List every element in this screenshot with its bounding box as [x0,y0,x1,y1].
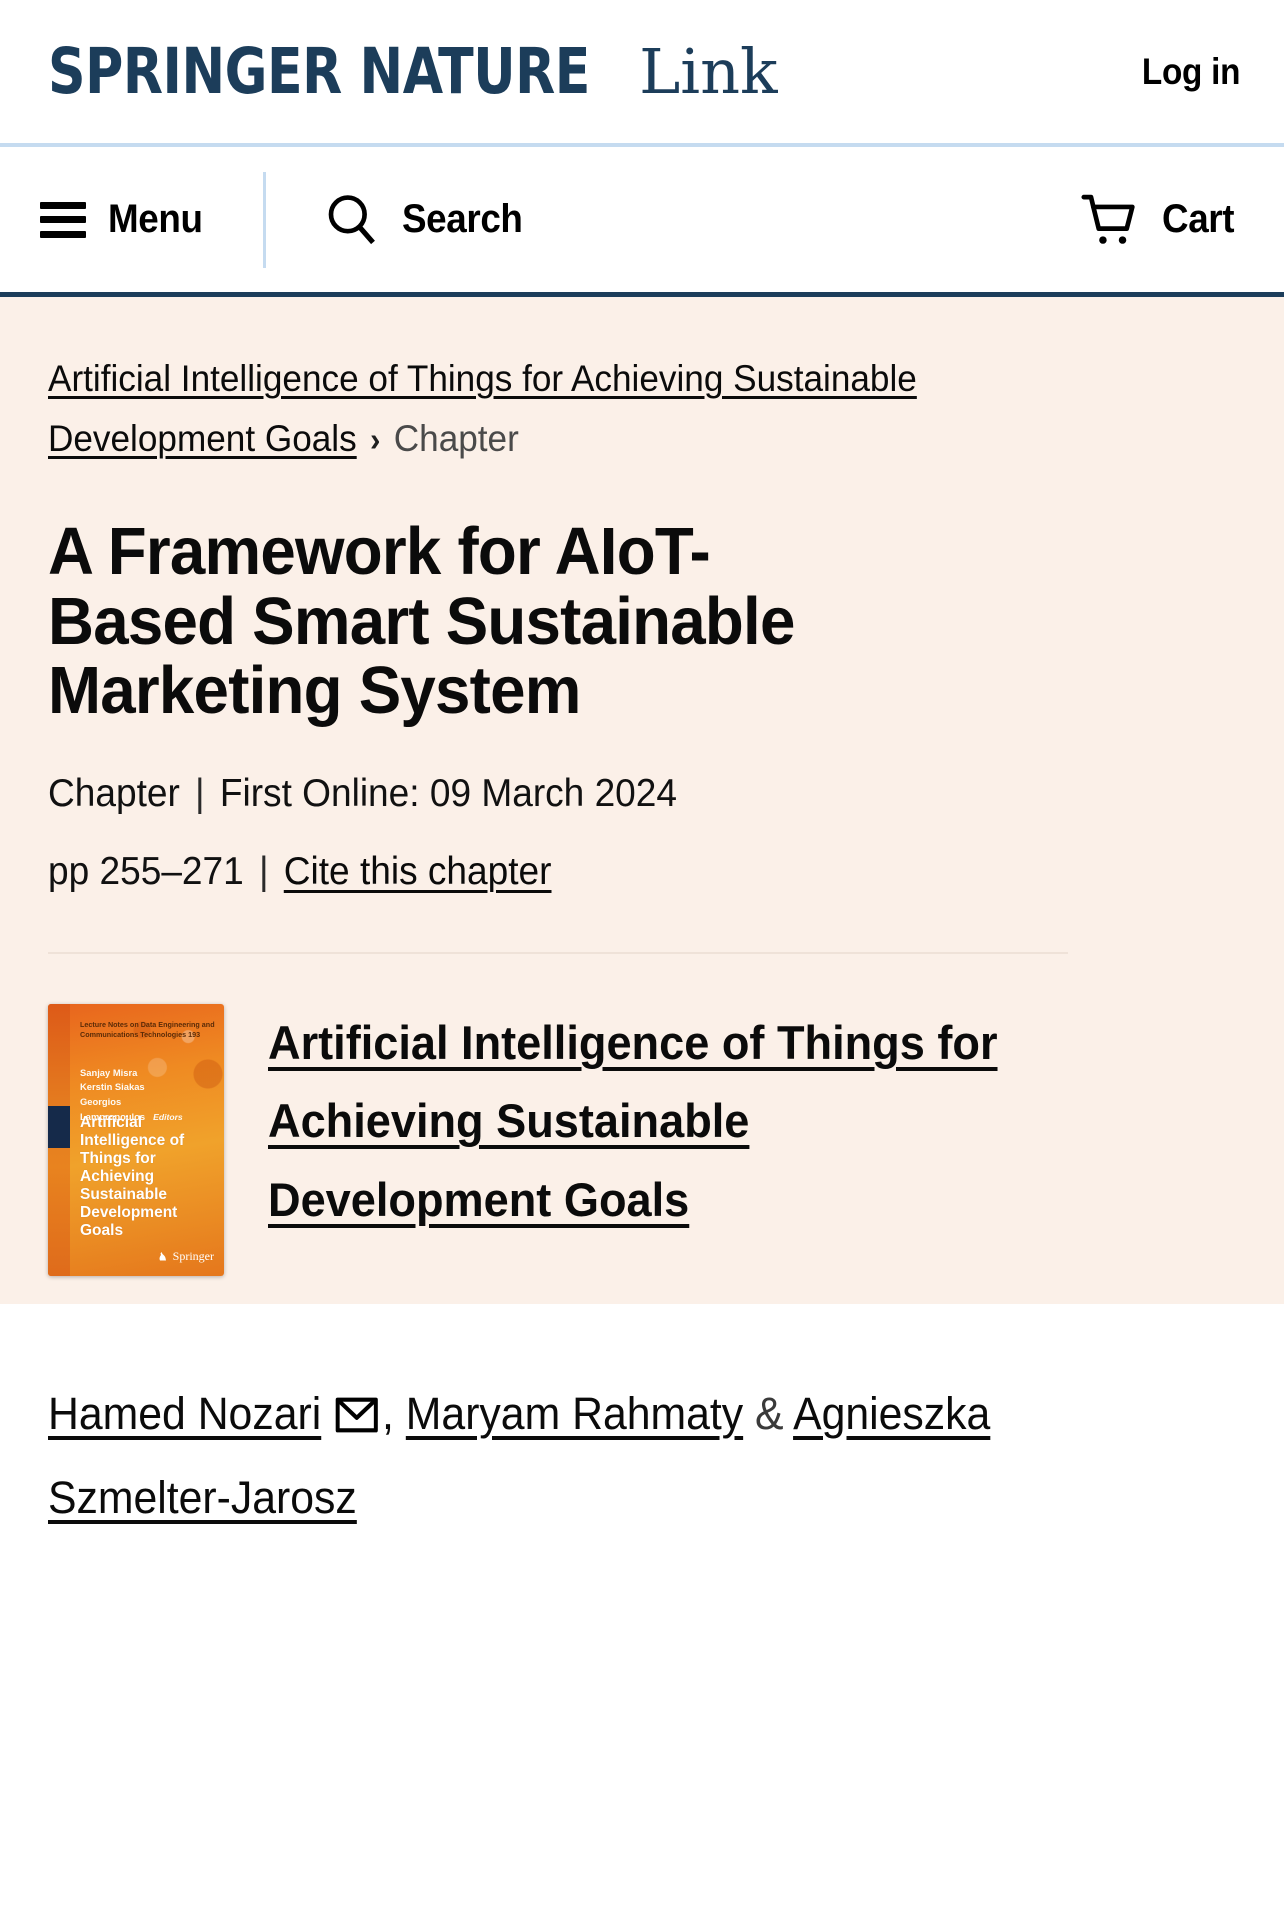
chapter-meta-primary: Chapter|First Online: 09 March 2024 [48,772,1177,816]
chapter-type-label: Chapter [48,772,180,815]
springer-knight-icon [157,1250,169,1262]
meta-pipe-2: | [259,850,269,893]
breadcrumb-current: Chapter [394,418,519,459]
book-title-link[interactable]: Artificial Intelligence of Things for Ac… [268,1004,1007,1239]
chapter-meta-secondary: pp 255–271|Cite this chapter [48,850,1177,894]
cover-series-text: Lecture Notes on Data Engineering and Co… [80,1020,216,1041]
hero-divider [48,952,1068,954]
cover-editor-2: Kerstin Siakas [80,1080,214,1095]
brand-header: SPRINGER NATURE Link Log in [0,0,1284,147]
main-navbar: Menu Search Cart [0,147,1284,297]
authors-section: Hamed Nozari, Maryam Rahmaty & Agnieszka… [0,1304,1284,1538]
chapter-hero: Artificial Intelligence of Things for Ac… [0,297,1284,1304]
cover-editor-1: Sanjay Misra [80,1066,214,1081]
menu-label: Menu [108,197,203,242]
search-icon [324,192,380,248]
author-link-2[interactable]: Maryam Rahmaty [406,1388,743,1439]
page-range-label: pp 255–271 [48,850,244,893]
nav-divider [263,172,266,268]
authors-comma: , [382,1388,394,1439]
search-label: Search [402,197,523,242]
search-button[interactable]: Search [324,192,533,248]
book-summary-row: Lecture Notes on Data Engineering and Co… [48,1004,1236,1276]
shopping-cart-icon [1078,192,1140,248]
breadcrumb-chevron-icon: › [370,421,380,458]
logo-nature-text: NATURE [360,35,590,108]
logo-springer-nature: SPRINGER NATURE [48,35,590,108]
logo-springer-text: SPRINGER [48,35,342,108]
cite-this-chapter-link[interactable]: Cite this chapter [284,850,552,893]
meta-pipe: | [195,772,205,815]
first-online-label: First Online: 09 March 2024 [220,772,677,815]
cover-title-text: Artificial Intelligence of Things for Ac… [80,1114,216,1240]
login-button[interactable]: Log in [1142,51,1240,93]
page-root: SPRINGER NATURE Link Log in Menu Search [0,0,1284,1913]
breadcrumb: Artificial Intelligence of Things for Ac… [48,349,1017,469]
envelope-icon[interactable] [335,1378,379,1458]
cover-publisher: Springer [157,1249,214,1264]
springer-nature-link-logo[interactable]: SPRINGER NATURE Link [48,35,778,108]
logo-link-text: Link [639,35,778,108]
book-cover-image[interactable]: Lecture Notes on Data Engineering and Co… [48,1004,224,1276]
authors-ampersand: & [755,1388,784,1439]
cart-button[interactable]: Cart [1078,192,1240,248]
authors-list: Hamed Nozari, Maryam Rahmaty & Agnieszka… [48,1374,1036,1538]
cover-publisher-name: Springer [173,1249,214,1264]
page-title: A Framework for AIoT-Based Smart Sustain… [48,517,884,726]
menu-button[interactable]: Menu [40,197,211,242]
author-link-1[interactable]: Hamed Nozari [48,1388,321,1439]
cart-label: Cart [1162,197,1234,242]
cover-spine-block [48,1106,70,1148]
hamburger-icon [40,202,86,238]
